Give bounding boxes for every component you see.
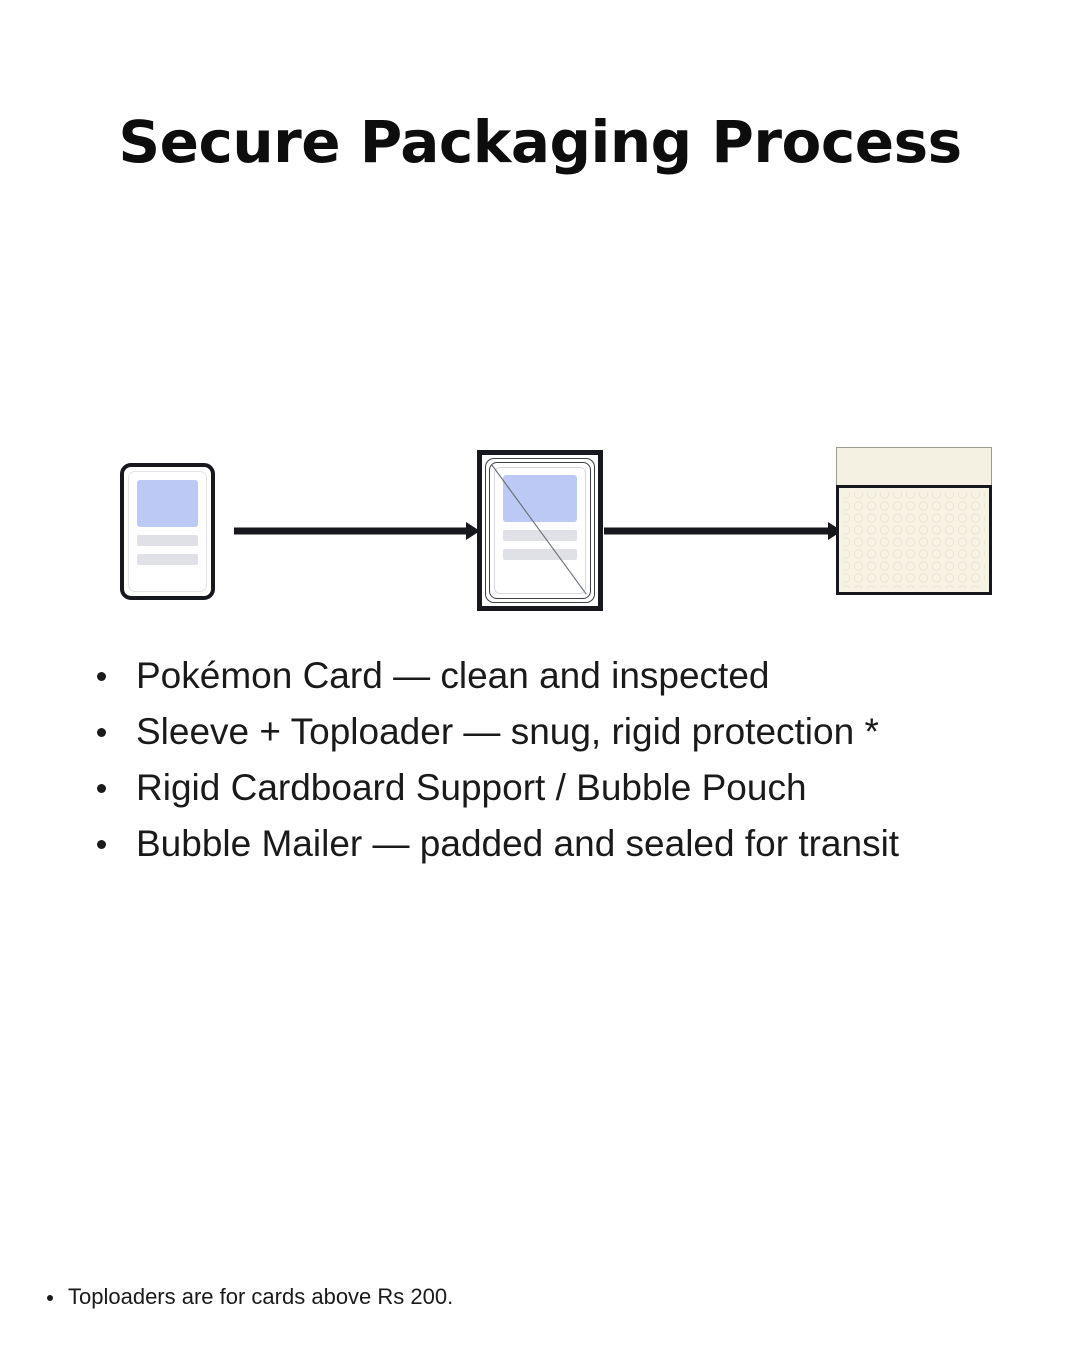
packaging-steps-list: Pokémon Card — clean and inspected Sleev… xyxy=(88,648,1048,872)
footnote-list: Toploaders are for cards above Rs 200. xyxy=(40,1282,940,1312)
mailer-flap xyxy=(836,447,992,486)
list-item: Sleeve + Toploader — snug, rigid protect… xyxy=(88,704,1048,760)
card-text-bar xyxy=(503,530,577,541)
card-text-bar xyxy=(137,535,198,546)
list-item: Pokémon Card — clean and inspected xyxy=(88,648,1048,704)
footnote-item: Toploaders are for cards above Rs 200. xyxy=(40,1282,940,1312)
card-artwork-block xyxy=(503,475,577,522)
toploader-shell xyxy=(485,458,595,603)
card-face xyxy=(128,471,207,592)
card-text-bar xyxy=(137,554,198,565)
card-text-bar xyxy=(503,549,577,560)
pokemon-card-icon xyxy=(120,463,215,600)
flow-arrow-icon xyxy=(604,520,842,542)
sleeve-toploader-icon xyxy=(477,450,603,611)
card-artwork-block xyxy=(137,480,198,527)
list-item: Bubble Mailer — padded and sealed for tr… xyxy=(88,816,1048,872)
bubble-mailer-icon xyxy=(836,447,992,595)
card-face xyxy=(494,467,586,594)
packaging-process-diagram xyxy=(0,0,1080,200)
card-sleeve xyxy=(489,462,591,599)
bubble-texture-icon xyxy=(839,488,989,592)
flow-arrow-icon xyxy=(234,520,480,542)
mailer-body xyxy=(836,485,992,595)
list-item: Rigid Cardboard Support / Bubble Pouch xyxy=(88,760,1048,816)
